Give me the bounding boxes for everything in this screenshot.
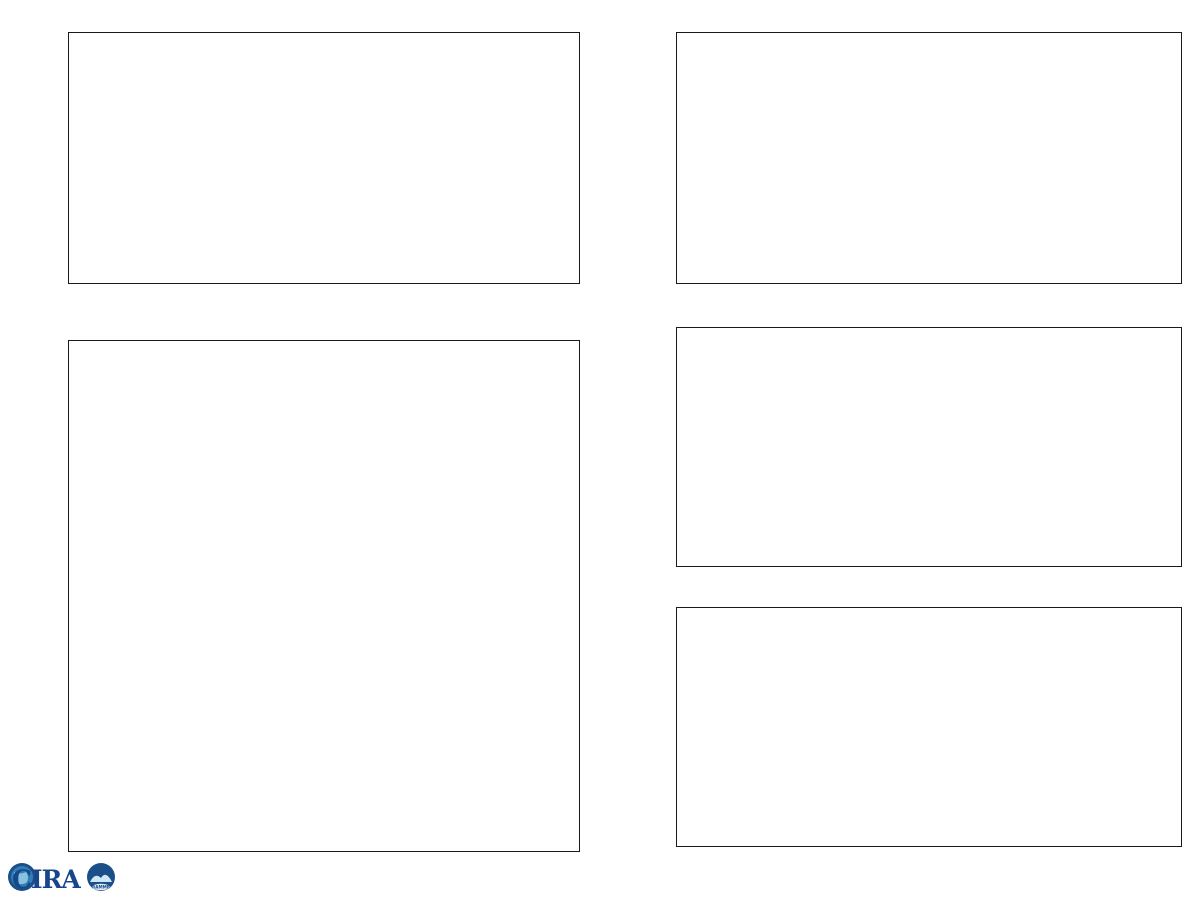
track-plot-area: [68, 340, 580, 852]
track-series-layer: [69, 341, 579, 851]
cira-logo-mark: RAMMB CIRA: [6, 856, 118, 896]
sst-series-layer: [677, 328, 1181, 566]
shear-series-layer: [677, 33, 1181, 283]
rh-series-layer: [677, 608, 1181, 846]
panel-intensity: [68, 32, 580, 284]
intensity-series-layer: [69, 33, 579, 283]
cira-logo: RAMMB CIRA: [6, 856, 118, 896]
panel-track: [68, 340, 580, 852]
svg-text:CIRA: CIRA: [12, 865, 81, 894]
shear-plot-area: [676, 32, 1182, 284]
panel-rh: [676, 607, 1182, 847]
svg-text:RAMMB: RAMMB: [92, 885, 110, 890]
panel-shear: [676, 32, 1182, 284]
diagnostic-comparison-page: RAMMB CIRA: [0, 0, 1200, 900]
rh-plot-area: [676, 607, 1182, 847]
intensity-plot-area: [68, 32, 580, 284]
panel-sst: [676, 327, 1182, 567]
sst-plot-area: [676, 327, 1182, 567]
